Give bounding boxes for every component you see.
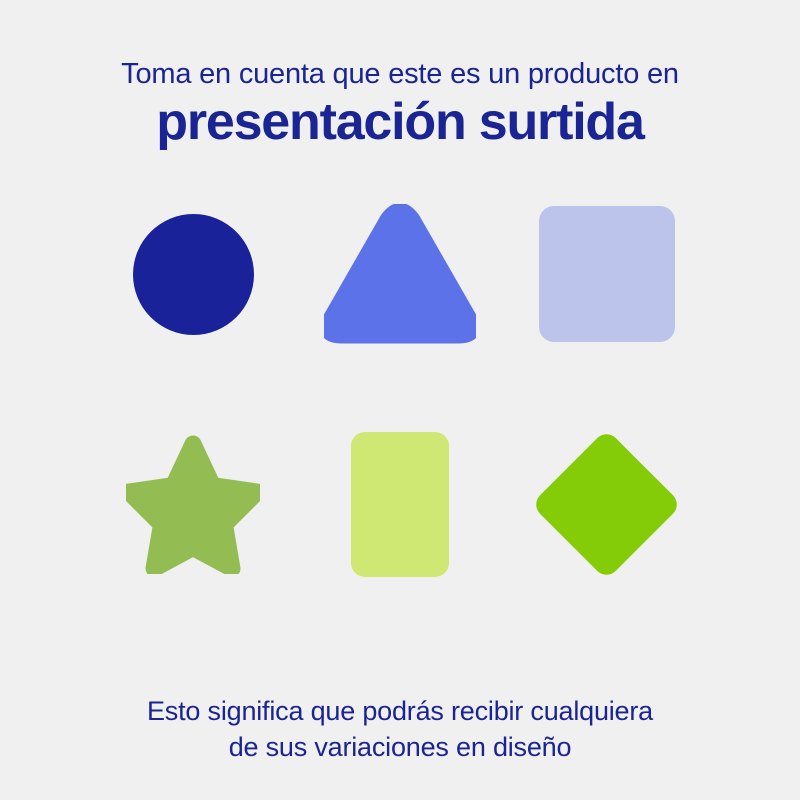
star-shape-icon bbox=[126, 434, 260, 574]
assorted-presentation-notice: Toma en cuenta que este es un producto e… bbox=[0, 0, 800, 800]
circle-shape-icon bbox=[133, 214, 254, 335]
diamond-shape-icon bbox=[531, 428, 682, 579]
shape-grid bbox=[90, 187, 710, 592]
footer-line-1: Esto significa que podrás recibir cualqu… bbox=[0, 694, 800, 730]
footer-line-2: de sus variaciones en diseño bbox=[0, 730, 800, 766]
footer-text: Esto significa que podrás recibir cualqu… bbox=[0, 694, 800, 765]
rounded-square-shape-icon bbox=[539, 206, 675, 342]
shape-cell-triangle bbox=[297, 187, 504, 362]
shape-cell-diamond bbox=[503, 417, 710, 592]
triangle-shape-icon bbox=[324, 204, 476, 344]
rounded-rectangle-shape-icon bbox=[351, 432, 449, 577]
heading-line-1: Toma en cuenta que este es un producto e… bbox=[40, 60, 760, 96]
heading-line-2: presentación surtida bbox=[40, 96, 760, 149]
shape-cell-star bbox=[90, 417, 297, 592]
page-title: Toma en cuenta que este es un producto e… bbox=[40, 60, 760, 149]
shape-cell-square bbox=[503, 187, 710, 362]
shape-cell-rectangle bbox=[297, 417, 504, 592]
shape-cell-circle bbox=[90, 187, 297, 362]
